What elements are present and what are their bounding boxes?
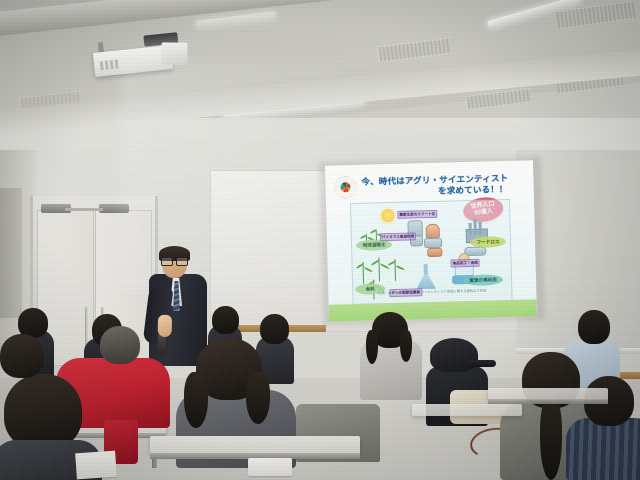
glasses-icon xyxy=(161,257,188,264)
flask-icon xyxy=(415,264,438,291)
handout-papers[interactable] xyxy=(75,451,117,480)
slide-callout-0: 農業生産のスマート化 xyxy=(397,210,437,219)
projector-lens xyxy=(161,42,187,64)
sun-icon xyxy=(381,209,394,222)
sdgs-colour-wheel-icon xyxy=(334,176,357,199)
student-desk xyxy=(412,404,522,416)
lecture-room-photo: 今、時代はアグリ・サイエンティスト を求めている！！ 世界人口 90億人 xyxy=(0,0,640,480)
left-wall-recess xyxy=(0,188,22,318)
slide-callout-2: 食品加工・流通 xyxy=(450,259,479,267)
presenter-hand xyxy=(158,315,172,337)
projected-slide: 今、時代はアグリ・サイエンティスト を求めている！！ 世界人口 90億人 xyxy=(325,160,537,321)
student-head xyxy=(4,374,82,450)
student-hair xyxy=(246,372,270,424)
slide-title: 今、時代はアグリ・サイエンティスト を求めている！！ xyxy=(361,173,522,199)
student-hair xyxy=(184,372,208,428)
door-closer xyxy=(41,204,71,213)
student-hair xyxy=(400,330,412,362)
projector-arm xyxy=(98,42,104,52)
student-head xyxy=(260,314,289,344)
notebook[interactable] xyxy=(248,458,292,476)
door-closer xyxy=(99,204,129,213)
student-head xyxy=(578,310,610,344)
ponytail xyxy=(540,396,562,480)
student-hair xyxy=(366,330,378,364)
slide-callout-1: バイオマス資源利用 xyxy=(380,232,417,240)
product-box-icon xyxy=(427,248,442,257)
slide-label-0: 地球温暖化 xyxy=(356,239,392,251)
conveyor-icon xyxy=(424,238,442,248)
student-head xyxy=(100,326,140,364)
student-striped-shirt xyxy=(566,418,640,480)
student-head xyxy=(212,306,239,334)
processing-unit-icon xyxy=(426,224,440,238)
slide-label-1: フードロス xyxy=(470,236,506,248)
cap-brim xyxy=(470,360,496,367)
student-desk xyxy=(150,436,360,454)
slide-label-3: 資源の再利用 xyxy=(463,274,503,286)
student-head xyxy=(0,334,44,378)
